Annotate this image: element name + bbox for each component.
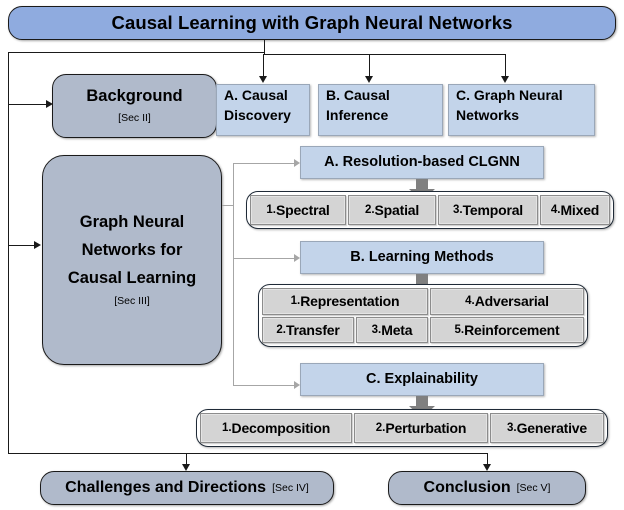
subitem-row: 1. Decomposition 2. Perturbation 3. Gene… [200,413,604,443]
subitem-meta-num: 3. [372,324,382,336]
subitem-spectral[interactable]: 1. Spectral [250,195,346,225]
connector-left-spine [8,52,9,454]
connector-to-main-section [8,245,36,246]
subitem-reinforcement-label: Reinforcement [464,322,559,338]
subitem-adversarial-num: 4. [465,295,475,307]
subitem-perturbation-num: 2. [376,422,386,434]
subitem-mixed-num: 4. [551,204,561,216]
subitem-representation[interactable]: 1. Representation [262,288,428,315]
subitem-temporal[interactable]: 3. Temporal [438,195,538,225]
category-bar-resolution-based-clgnn[interactable]: A. Resolution-based CLGNN [300,146,544,179]
subitem-reinforcement-num: 5. [454,324,464,336]
connector-to-category-b [233,258,296,259]
subitem-generative[interactable]: 3. Generative [490,413,604,443]
subitem-temporal-num: 3. [453,204,463,216]
connector-to-background [8,104,48,105]
topic-box-graph-neural-networks[interactable]: C. Graph Neural Networks [448,84,595,136]
subitems-learning-methods: 1. Representation 4. Adversarial 2. Tran… [258,284,588,347]
subitem-decomposition[interactable]: 1. Decomposition [200,413,352,443]
subitems-resolution-based-clgnn: 1. Spectral 2. Spatial 3. Temporal 4. Mi… [246,191,614,229]
subitem-row: 1. Spectral 2. Spatial 3. Temporal 4. Mi… [250,195,610,225]
subitem-spectral-label: Spectral [276,202,330,218]
topic-c-line1: C. Graph Neural [456,85,563,105]
topic-a-line1: A. Causal [224,85,288,105]
subitem-decomposition-num: 1. [222,422,232,434]
subitem-spatial-label: Spatial [375,202,420,218]
subitem-decomposition-label: Decomposition [232,420,331,436]
section-main-line1: Graph Neural [80,213,185,232]
arrowhead-main-section [34,241,41,249]
arrowhead-topic-c [501,76,509,83]
topic-box-causal-discovery[interactable]: A. Causal Discovery [216,84,310,136]
footer-conclusion-ref: [Sec V] [517,482,551,494]
section-main-line3: Causal Learning [68,269,196,288]
subitem-spectral-num: 1. [266,204,276,216]
connector-footer-bus [8,453,488,454]
connector-main-trunk [233,163,234,385]
subitem-meta[interactable]: 3. Meta [356,317,428,344]
arrowhead-topic-b [365,76,373,83]
connector-topic-b-drop [369,54,370,78]
subitem-representation-label: Representation [300,293,399,309]
subitem-transfer-num: 2. [276,324,286,336]
subitem-spatial[interactable]: 2. Spatial [348,195,436,225]
subitem-perturbation[interactable]: 2. Perturbation [354,413,488,443]
section-background-ref: [Sec II] [118,112,151,124]
subitem-generative-label: Generative [517,420,587,436]
section-background-label: Background [86,87,182,106]
flowchart-diagram: Causal Learning with Graph Neural Networ… [0,0,624,510]
subitem-meta-label: Meta [381,322,412,338]
subitem-reinforcement[interactable]: 5. Reinforcement [430,317,584,344]
connector-frame-top-left [8,52,264,53]
connector-topics-bus [263,54,506,55]
subitem-representation-num: 1. [291,295,301,307]
connector-title-stem [264,40,265,54]
subitem-mixed-label: Mixed [560,202,599,218]
connector-to-category-a [233,163,296,164]
subitem-generative-num: 3. [507,422,517,434]
category-a-label: A. Resolution-based CLGNN [324,154,520,171]
section-conclusion[interactable]: Conclusion [Sec V] [388,471,586,505]
subitem-spatial-num: 2. [365,204,375,216]
subitem-adversarial[interactable]: 4. Adversarial [430,288,584,315]
category-c-label: C. Explainability [366,371,478,388]
category-bar-learning-methods[interactable]: B. Learning Methods [300,241,544,274]
page-title: Causal Learning with Graph Neural Networ… [111,12,512,33]
subitem-temporal-label: Temporal [463,202,523,218]
subitems-explainability: 1. Decomposition 2. Perturbation 3. Gene… [196,409,608,447]
section-challenges-and-directions[interactable]: Challenges and Directions [Sec IV] [40,471,334,505]
subitem-perturbation-label: Perturbation [385,420,466,436]
section-main-ref: [Sec III] [114,295,150,307]
arrowhead-topic-a [259,76,267,83]
section-main-line2: Networks for [82,241,183,260]
connector-topic-c-drop [505,54,506,78]
topic-c-line2: Networks [456,105,519,125]
topic-b-line2: Inference [326,105,388,125]
connector-topic-a-drop [263,54,264,78]
category-bar-explainability[interactable]: C. Explainability [300,363,544,396]
subitem-adversarial-label: Adversarial [475,293,549,309]
diagram-title-banner: Causal Learning with Graph Neural Networ… [8,6,616,40]
connector-to-category-c [233,385,296,386]
arrowhead-challenges [182,464,190,471]
subitem-row: 1. Representation 4. Adversarial [262,288,584,315]
subitem-transfer-label: Transfer [286,322,340,338]
section-background[interactable]: Background [Sec II] [52,74,217,138]
footer-challenges-label: Challenges and Directions [65,479,266,497]
subitem-transfer[interactable]: 2. Transfer [262,317,354,344]
topic-a-line2: Discovery [224,105,291,125]
footer-challenges-ref: [Sec IV] [272,482,309,494]
subitem-row: 2. Transfer 3. Meta 5. Reinforcement [262,317,584,344]
subitem-mixed[interactable]: 4. Mixed [540,195,610,225]
section-gnn-for-causal-learning[interactable]: Graph Neural Networks for Causal Learnin… [42,155,222,365]
topic-b-line1: B. Causal [326,85,390,105]
footer-conclusion-label: Conclusion [424,479,511,497]
topic-box-causal-inference[interactable]: B. Causal Inference [318,84,443,136]
category-b-label: B. Learning Methods [350,249,493,266]
arrowhead-conclusion [483,464,491,471]
